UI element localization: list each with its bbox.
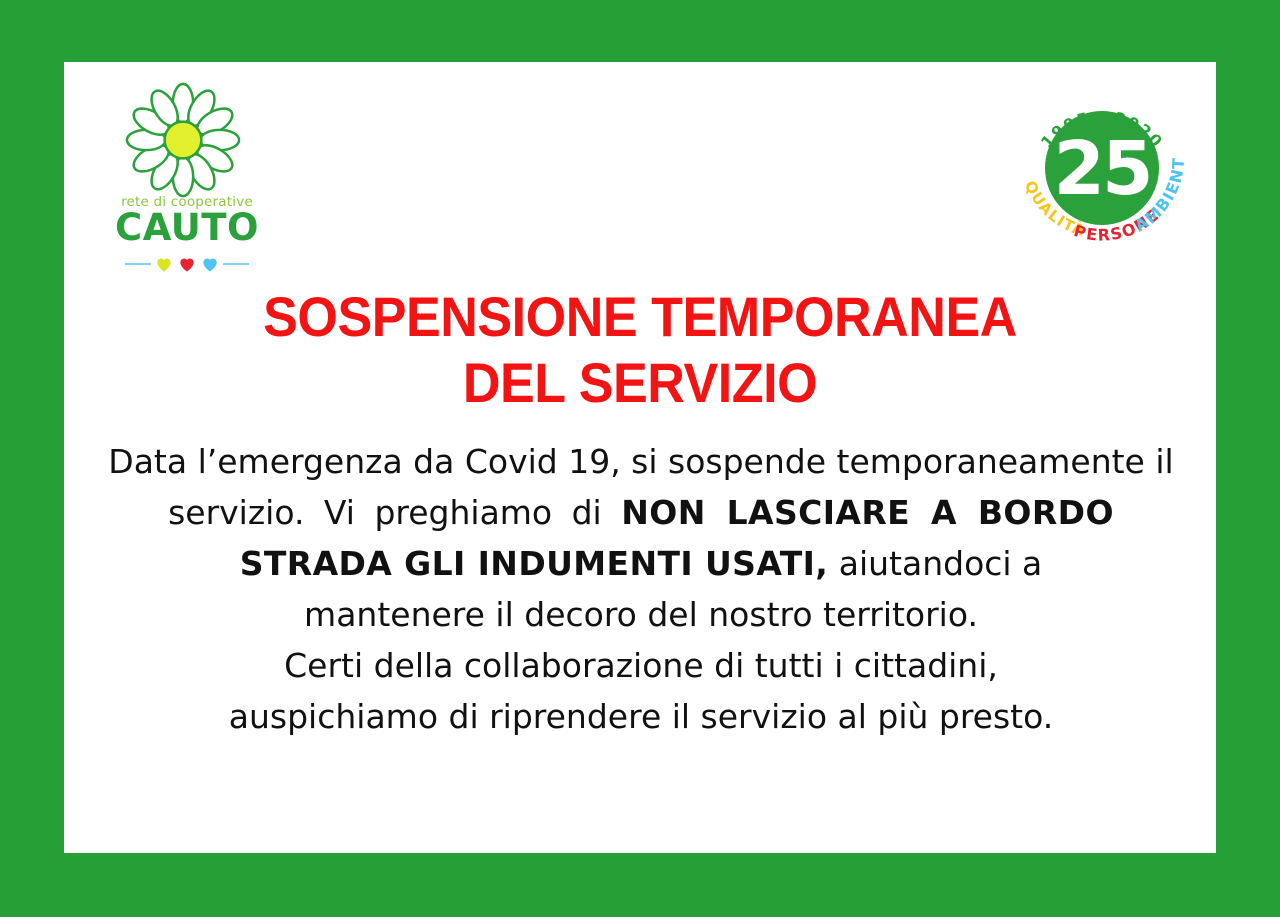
badge-number-text: 25 bbox=[1054, 126, 1151, 212]
anniversary-25-badge: 1995 - 2020 25 ° QUALITÀ PERSONE AMBIENT… bbox=[1010, 84, 1194, 254]
body-line-3: STRADA GLI INDUMENTI USATI, aiutandoci a bbox=[102, 538, 1180, 589]
cauto-logo: rete di cooperative CAUTO bbox=[107, 82, 267, 257]
headline-line-1: SOSPENSIONE TEMPORANEA bbox=[104, 284, 1175, 350]
heart-yellow-icon bbox=[154, 254, 174, 274]
heart-blue-icon bbox=[200, 254, 220, 274]
body-line-1-text: Data l’emergenza da Covid 19, si sospend… bbox=[108, 442, 1173, 481]
headline-line-2: DEL SERVIZIO bbox=[104, 350, 1175, 416]
heart-red-icon bbox=[177, 254, 197, 274]
body-line-2-plain: servizio. Vi preghiamo di bbox=[168, 493, 621, 532]
body-line-6: auspichiamo di riprendere il servizio al… bbox=[102, 691, 1180, 742]
body-line-4: mantenere il decoro del nostro territori… bbox=[102, 589, 1180, 640]
white-panel: rete di cooperative CAUTO bbox=[64, 62, 1216, 853]
body-line-5: Certi della collaborazione di tutti i ci… bbox=[102, 640, 1180, 691]
rule-left bbox=[125, 263, 151, 265]
body-line-2: servizio. Vi preghiamo di NON LASCIARE A… bbox=[102, 487, 1180, 538]
badge-degree-text: ° bbox=[1152, 123, 1165, 153]
daisy-flower-icon bbox=[125, 82, 241, 198]
body-line-2-bold: NON LASCIARE A BORDO bbox=[621, 493, 1114, 532]
headline: SOSPENSIONE TEMPORANEA DEL SERVIZIO bbox=[104, 284, 1175, 416]
cauto-heart-row bbox=[107, 254, 267, 274]
body-line-3-bold: STRADA GLI INDUMENTI USATI, bbox=[240, 544, 829, 583]
body-line-1: Data l’emergenza da Covid 19, si sospend… bbox=[102, 436, 1180, 487]
rule-right bbox=[223, 263, 249, 265]
poster-root: rete di cooperative CAUTO bbox=[0, 0, 1280, 917]
body-line-3-plain: aiutandoci a bbox=[828, 544, 1042, 583]
body-copy: Data l’emergenza da Covid 19, si sospend… bbox=[102, 436, 1180, 742]
cauto-wordmark: CAUTO bbox=[107, 209, 267, 246]
